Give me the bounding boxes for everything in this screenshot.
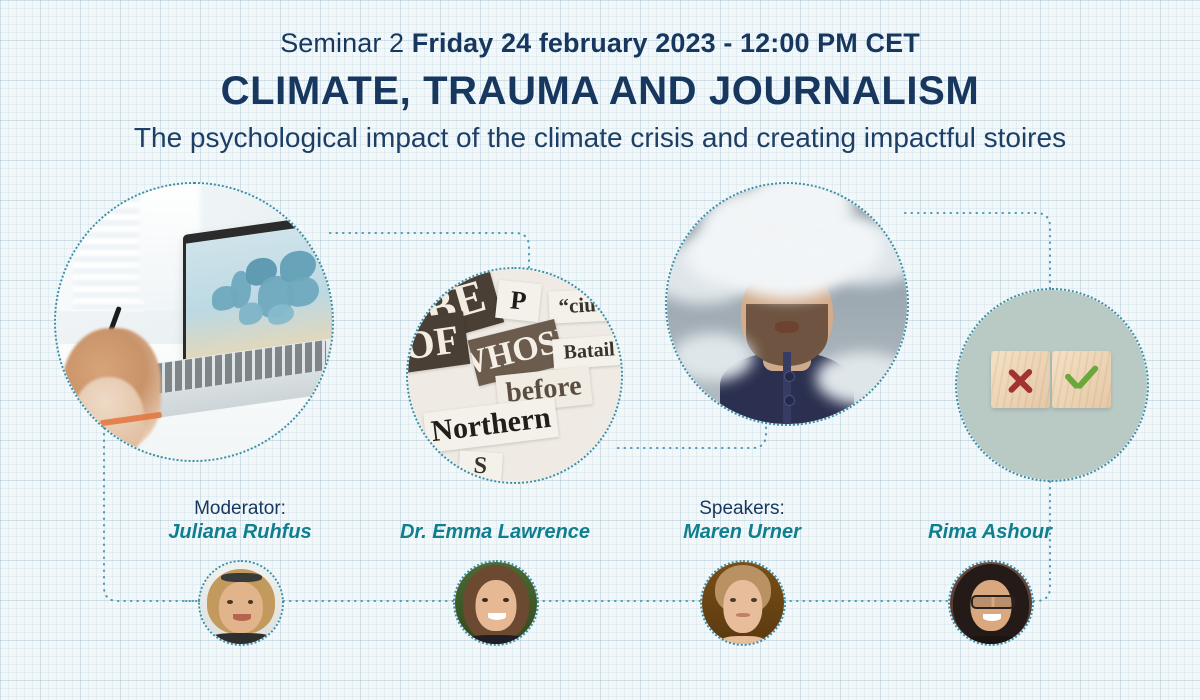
glasses-icon [971,595,1014,610]
moderator-role-label: Moderator: [140,498,340,520]
newspaper-word: “ciud [548,289,618,324]
speaker-name-maren-urner: Maren Urner [642,521,842,543]
newspaper-word: Batail [552,335,621,370]
moderator-name-juliana-ruhfus: Juliana Ruhfus [140,521,340,543]
wooden-blocks-photo [955,288,1149,482]
emma-lawrence-avatar [453,560,539,646]
newspaper-cutouts-photo: BE OF P “ciud WHOSE Batail before Northe… [406,267,623,484]
connector-cloud-blocks [905,213,1050,290]
laptop-writing-photo [54,182,334,462]
speaker-name-emma-lawrence: Dr. Emma Lawrence [395,521,595,543]
speakers-role-label: Speakers: [642,498,842,520]
poster-header: Seminar 2 Friday 24 february 2023 - 12:0… [0,0,1200,152]
newspaper-word: P [496,280,542,323]
check-block [1052,351,1111,408]
seminar-datetime: Friday 24 february 2023 - 12:00 PM CET [412,28,920,58]
rima-ashour-avatar [948,560,1034,646]
seminar-kicker: Seminar 2 Friday 24 february 2023 - 12:0… [0,30,1200,57]
check-icon [1052,351,1111,408]
newspaper-word: Northern [423,397,559,453]
page-title: CLIMATE, TRAUMA AND JOURNALISM [0,71,1200,111]
newspaper-word: S [458,451,503,482]
seminar-number: Seminar 2 [280,28,404,58]
cloud-head-photo [665,182,909,426]
speaker-name-rima-ashour: Rima Ashour [890,521,1090,543]
page-subtitle: The psychological impact of the climate … [0,124,1200,152]
maren-urner-avatar [700,560,786,646]
cross-block [991,351,1050,408]
cross-icon [991,351,1050,408]
newspaper-word: OF [408,311,471,374]
seminar-poster: Seminar 2 Friday 24 february 2023 - 12:0… [0,0,1200,700]
juliana-ruhfus-avatar [198,560,284,646]
